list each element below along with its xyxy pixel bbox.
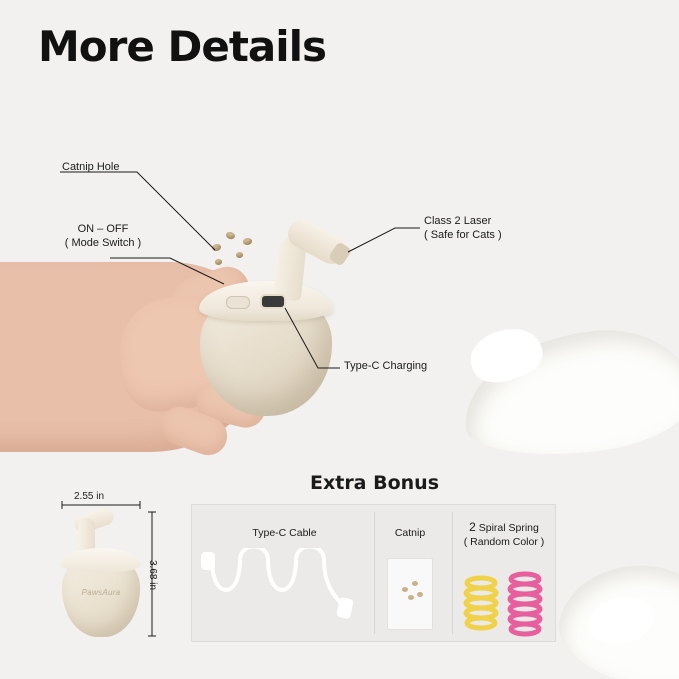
spring-label: Spiral Spring [476,522,539,534]
bonus-item-catnip-label: Catnip [368,527,452,539]
callout-class-2-laser-sublabel: ( Safe for Cats ) [424,228,502,242]
bonus-item-spiral-spring-label: 2 Spiral Spring ( Random Color ) [448,520,560,549]
callout-type-c-charging: Type-C Charging [344,359,427,373]
dim-device-cap [61,548,141,572]
catnip-piece [243,238,253,246]
callout-mode-switch-sublabel: ( Mode Switch ) [48,236,158,250]
spiral-spring-yellow [462,574,500,641]
catnip-piece [211,243,221,252]
bonus-section-title: Extra Bonus [310,472,439,494]
product-detail-image: More Details C [0,0,679,679]
catnip-bag-illustration [387,558,433,630]
callout-catnip-hole-label: Catnip Hole [62,161,119,173]
callout-class-2-laser: Class 2 Laser ( Safe for Cats ) [424,214,502,242]
catnip-piece [236,252,243,258]
brand-logo: PawsAura [62,588,140,597]
callout-mode-switch-label: ON – OFF [48,222,158,236]
type-c-cable-illustration [198,548,358,631]
page-title: More Details [38,22,326,71]
spring-count: 2 [469,520,476,534]
bonus-item-type-c-cable-label: Type-C Cable [217,527,352,539]
dimension-width-label: 2.55 in [74,491,104,502]
callout-mode-switch: ON – OFF ( Mode Switch ) [48,222,158,250]
spring-sublabel: ( Random Color ) [448,535,560,549]
catnip-piece [215,259,222,265]
catnip-piece [225,231,236,240]
mode-switch-control [226,296,250,309]
callout-type-c-charging-label: Type-C Charging [344,360,427,372]
callout-catnip-hole: Catnip Hole [62,160,119,174]
dimension-height-label: 3.68 in [147,560,158,590]
type-c-port [262,296,284,307]
callout-class-2-laser-label: Class 2 Laser [424,214,502,228]
spiral-spring-pink [506,570,544,643]
